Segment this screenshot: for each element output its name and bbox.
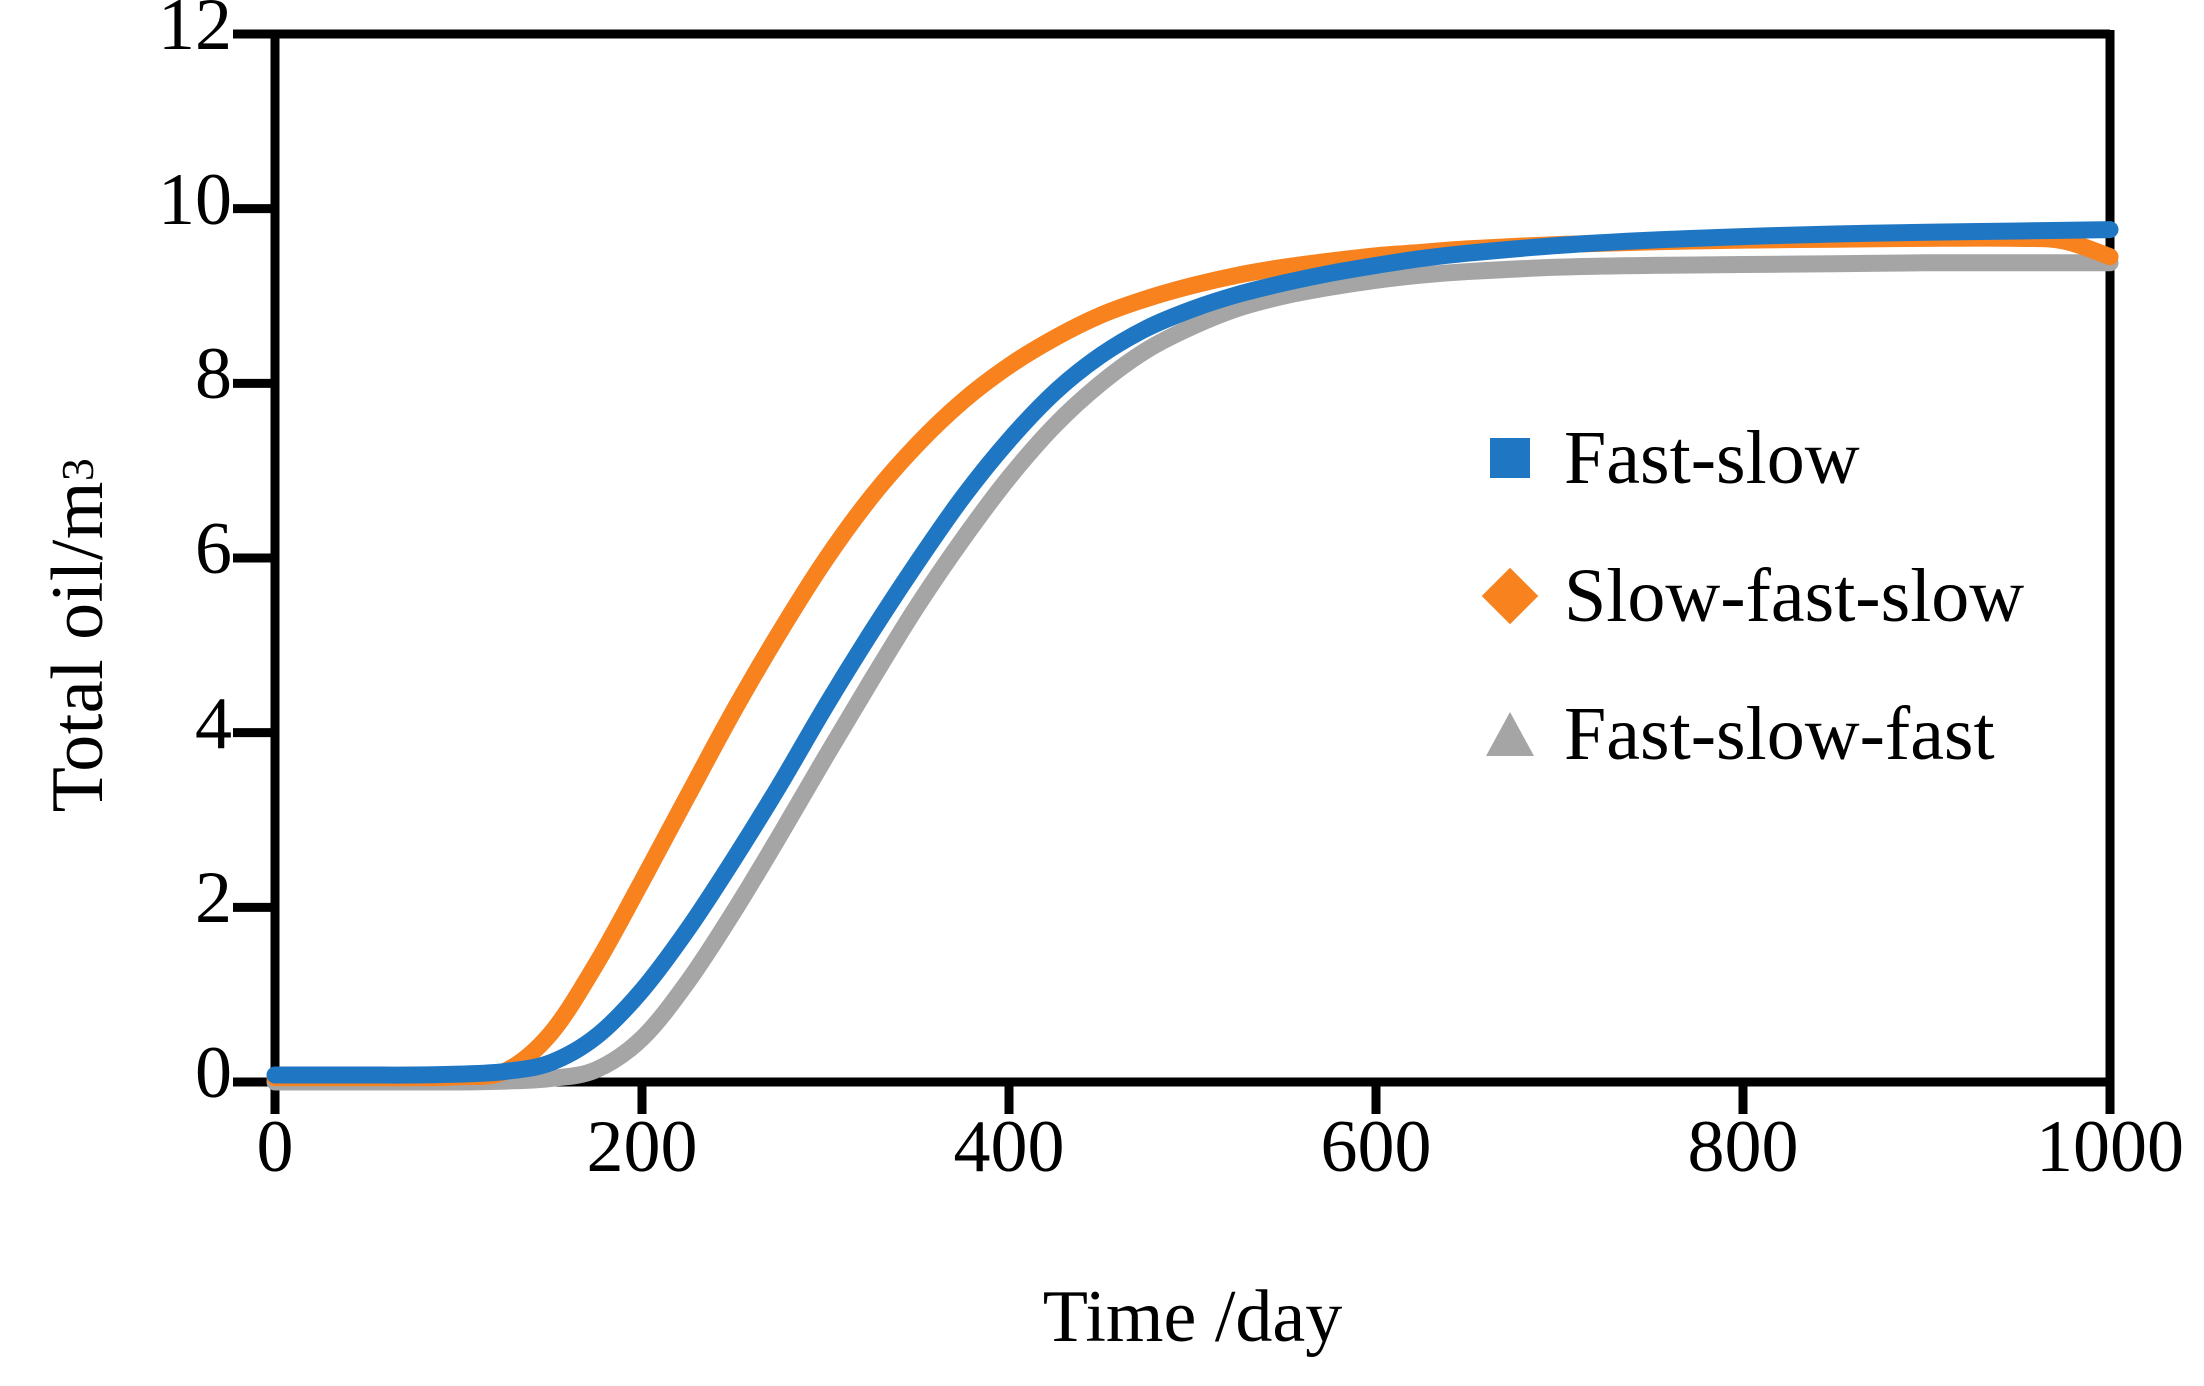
legend-label: Fast-slow-fast: [1564, 696, 1995, 772]
legend-item-fast-slow-fast[interactable]: Fast-slow-fast: [1478, 682, 2024, 786]
x-tick-label: 400: [889, 1110, 1129, 1184]
x-axis-title: Time /day: [275, 1275, 2110, 1360]
x-tick-label: 200: [522, 1110, 762, 1184]
diamond-marker-icon: [1478, 576, 1542, 616]
legend-label: Fast-slow: [1564, 420, 1860, 496]
square-marker-icon: [1478, 438, 1542, 478]
chart-figure: Total oil/m3 0 2 4 6 8 10 12 02004006008…: [0, 0, 2204, 1386]
triangle-marker-icon: [1478, 712, 1542, 756]
chart-legend: Fast-slow Slow-fast-slow Fast-slow-fast: [1478, 406, 2024, 786]
legend-item-fast-slow[interactable]: Fast-slow: [1478, 406, 2024, 510]
legend-label: Slow-fast-slow: [1564, 558, 2024, 634]
x-tick-label: 0: [155, 1110, 395, 1184]
x-tick-label: 1000: [1990, 1110, 2204, 1184]
x-tick-label: 800: [1623, 1110, 1863, 1184]
legend-item-slow-fast-slow[interactable]: Slow-fast-slow: [1478, 544, 2024, 648]
x-tick-label: 600: [1256, 1110, 1496, 1184]
